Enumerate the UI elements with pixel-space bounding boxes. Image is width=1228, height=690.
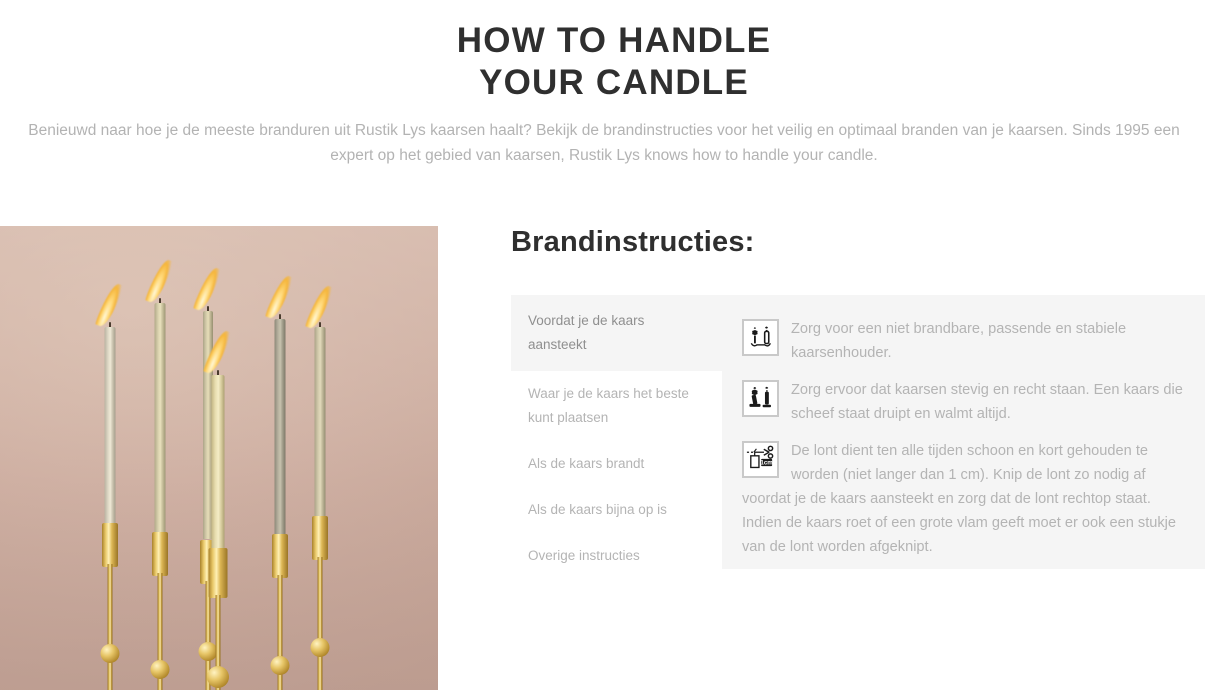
- instruction-item: Zorg voor een niet brandbare, passende e…: [742, 317, 1185, 365]
- candle-holder: [272, 534, 288, 578]
- page-title: HOW TO HANDLE YOUR CANDLE: [0, 20, 1228, 104]
- candle-stick: [275, 319, 286, 541]
- candle-holder: [102, 523, 118, 567]
- tab-waar-je-de-kaars-het-beste-kunt-plaatsen[interactable]: Waar je de kaars het beste kunt plaatsen: [511, 371, 722, 441]
- holder-rod: [108, 564, 113, 690]
- instruction-text: Zorg ervoor dat kaarsen stevig en recht …: [742, 378, 1185, 426]
- page-title-line-1: HOW TO HANDLE: [0, 20, 1228, 62]
- candle-upright-icon: [742, 380, 779, 417]
- page-root: HOW TO HANDLE YOUR CANDLE Benieuwd naar …: [0, 0, 1228, 690]
- trim-wick-scissors-icon: 1cm: [742, 441, 779, 478]
- candle-stick: [315, 327, 326, 521]
- candle-holder: [312, 516, 328, 560]
- section-title: Brandinstructies:: [511, 226, 755, 259]
- instruction-text: Zorg voor een niet brandbare, passende e…: [742, 317, 1185, 365]
- tab-label: Voordat je de kaars aansteekt: [528, 313, 644, 352]
- page-title-line-2: YOUR CANDLE: [0, 62, 1228, 104]
- candle-1: [90, 226, 130, 690]
- candles-photo: [0, 226, 438, 690]
- holder-ball: [311, 638, 330, 657]
- tab-label: Als de kaars bijna op is: [528, 502, 667, 517]
- instructions-block: Voordat je de kaars aansteekt Waar je de…: [511, 295, 1205, 569]
- instructions-panel: Zorg voor een niet brandbare, passende e…: [722, 295, 1205, 569]
- tab-overige-instructies[interactable]: Overige instructies: [511, 533, 722, 579]
- candle-4: [198, 226, 238, 690]
- instructions-tab-list: Voordat je de kaars aansteekt Waar je de…: [511, 295, 722, 569]
- candle-holder: [209, 548, 228, 598]
- candle-6: [300, 226, 340, 690]
- holder-ball: [271, 656, 290, 675]
- candle-holder: [152, 532, 168, 576]
- holder-ball: [151, 660, 170, 679]
- page-intro-paragraph: Benieuwd naar hoe je de meeste branduren…: [6, 118, 1202, 168]
- tab-label: Overige instructies: [528, 548, 640, 563]
- candle-5: [260, 226, 300, 690]
- tab-label: Als de kaars brandt: [528, 456, 644, 471]
- instruction-item: Zorg ervoor dat kaarsen stevig en recht …: [742, 378, 1185, 426]
- candle-stick: [155, 303, 166, 537]
- instruction-item: 1cm De lont dient ten alle tijden schoon…: [742, 439, 1185, 559]
- tab-als-de-kaars-brandt[interactable]: Als de kaars brandt: [511, 441, 722, 487]
- tab-voordat-je-de-kaars-aansteekt[interactable]: Voordat je de kaars aansteekt: [511, 295, 722, 371]
- icon-measure-label: 1cm: [760, 459, 773, 466]
- candle-stick: [105, 327, 116, 537]
- holder-ball: [101, 644, 120, 663]
- holder-rod: [318, 557, 323, 690]
- candle-holder-stable-icon: [742, 319, 779, 356]
- candle-2: [140, 226, 180, 690]
- instruction-text: De lont dient ten alle tijden schoon en …: [742, 439, 1185, 559]
- candle-stick: [212, 375, 225, 555]
- tab-als-de-kaars-bijna-op-is[interactable]: Als de kaars bijna op is: [511, 487, 722, 533]
- tab-label: Waar je de kaars het beste kunt plaatsen: [528, 386, 689, 425]
- holder-ball: [207, 666, 229, 688]
- flame-icon: [203, 328, 232, 376]
